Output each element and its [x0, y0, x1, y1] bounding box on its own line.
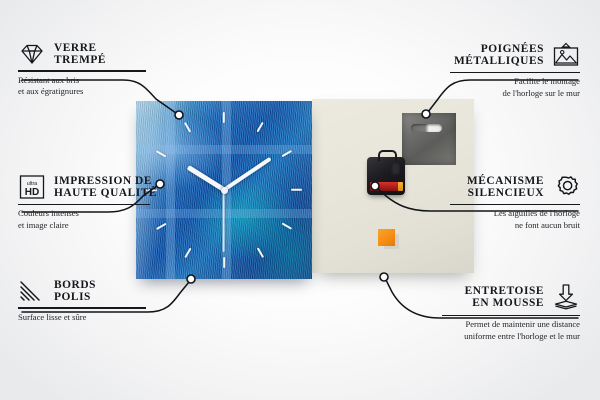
callout-title-line1: BORDS [54, 279, 96, 291]
callout-title-line1: ENTRETOISE [465, 285, 544, 297]
clock-front-face [136, 101, 312, 279]
metal-bracket [402, 113, 456, 165]
callout-description: Les aiguilles de l'horloge ne font aucun… [450, 208, 580, 231]
mechanism-dial [391, 162, 400, 175]
center-cap [221, 187, 228, 194]
callout-description: Surface lisse et sûre [18, 312, 146, 324]
hour-tick [223, 257, 225, 268]
callout-rule [18, 70, 146, 71]
callout-title-line2: HAUTE QUALITÉ [54, 187, 157, 199]
battery [370, 182, 400, 191]
second-hand [223, 190, 225, 252]
callout-title-line2: SILENCIEUX [468, 187, 544, 199]
callout-verre-trempe[interactable]: VERRE TREMPÉ Résistant aux bris et aux é… [18, 42, 146, 98]
callout-title-line1: MÉCANISME [467, 175, 544, 187]
callout-title-line1: IMPRESSION DE [54, 175, 157, 187]
callout-description: Couleurs intenses et image claire [18, 208, 150, 231]
gear-icon [552, 174, 580, 200]
callout-description: Résistant aux bris et aux égratignures [18, 75, 146, 98]
callout-description: Permet de maintenir une distance uniform… [442, 319, 580, 342]
hanging-frame-icon [552, 42, 580, 68]
arrow-down-layers-icon [552, 283, 580, 311]
callout-mecanisme-silencieux[interactable]: MÉCANISME SILENCIEUX Les aiguilles de l'… [450, 174, 580, 232]
polished-edge-icon [18, 279, 46, 303]
callout-impression-haute-qualite[interactable]: ultra HD IMPRESSION DE HAUTE QUALITÉ Cou… [18, 174, 150, 232]
callout-poignees-metalliques[interactable]: POIGNÉES MÉTALLIQUES Facilite le montage… [450, 42, 580, 100]
ultra-hd-icon-main-text: HD [25, 187, 39, 198]
callout-rule [442, 315, 580, 316]
callout-title-line1: POIGNÉES [481, 43, 544, 55]
mechanism-hook [378, 150, 397, 161]
callout-rule [450, 72, 580, 73]
callout-rule [450, 204, 580, 205]
callout-rule [18, 307, 146, 308]
battery-plus-terminal [398, 182, 403, 191]
bracket-slot [411, 124, 442, 132]
callout-bords-polis[interactable]: BORDS POLIS Surface lisse et sûre [18, 279, 146, 323]
callout-title-line1: VERRE [54, 42, 106, 54]
callout-title-line2: POLIS [54, 291, 96, 303]
callout-entretoise-en-mousse[interactable]: ENTRETOISE EN MOUSSE Permet de maintenir… [442, 283, 580, 343]
callout-description: Facilite le montage de l'horloge sur le … [450, 76, 580, 99]
callout-rule [18, 204, 150, 205]
infographic-canvas: VERRE TREMPÉ Résistant aux bris et aux é… [0, 0, 600, 400]
callout-title-line2: MÉTALLIQUES [454, 55, 544, 67]
ultra-hd-icon: ultra HD [18, 174, 46, 200]
pattern-bar [166, 101, 175, 279]
clock-mechanism [367, 157, 405, 195]
callout-title-line2: TREMPÉ [54, 54, 106, 66]
callout-title-line2: EN MOUSSE [472, 297, 544, 309]
diamond-icon [18, 42, 46, 66]
node-entretoise [380, 273, 388, 281]
foam-spacer [378, 229, 395, 246]
